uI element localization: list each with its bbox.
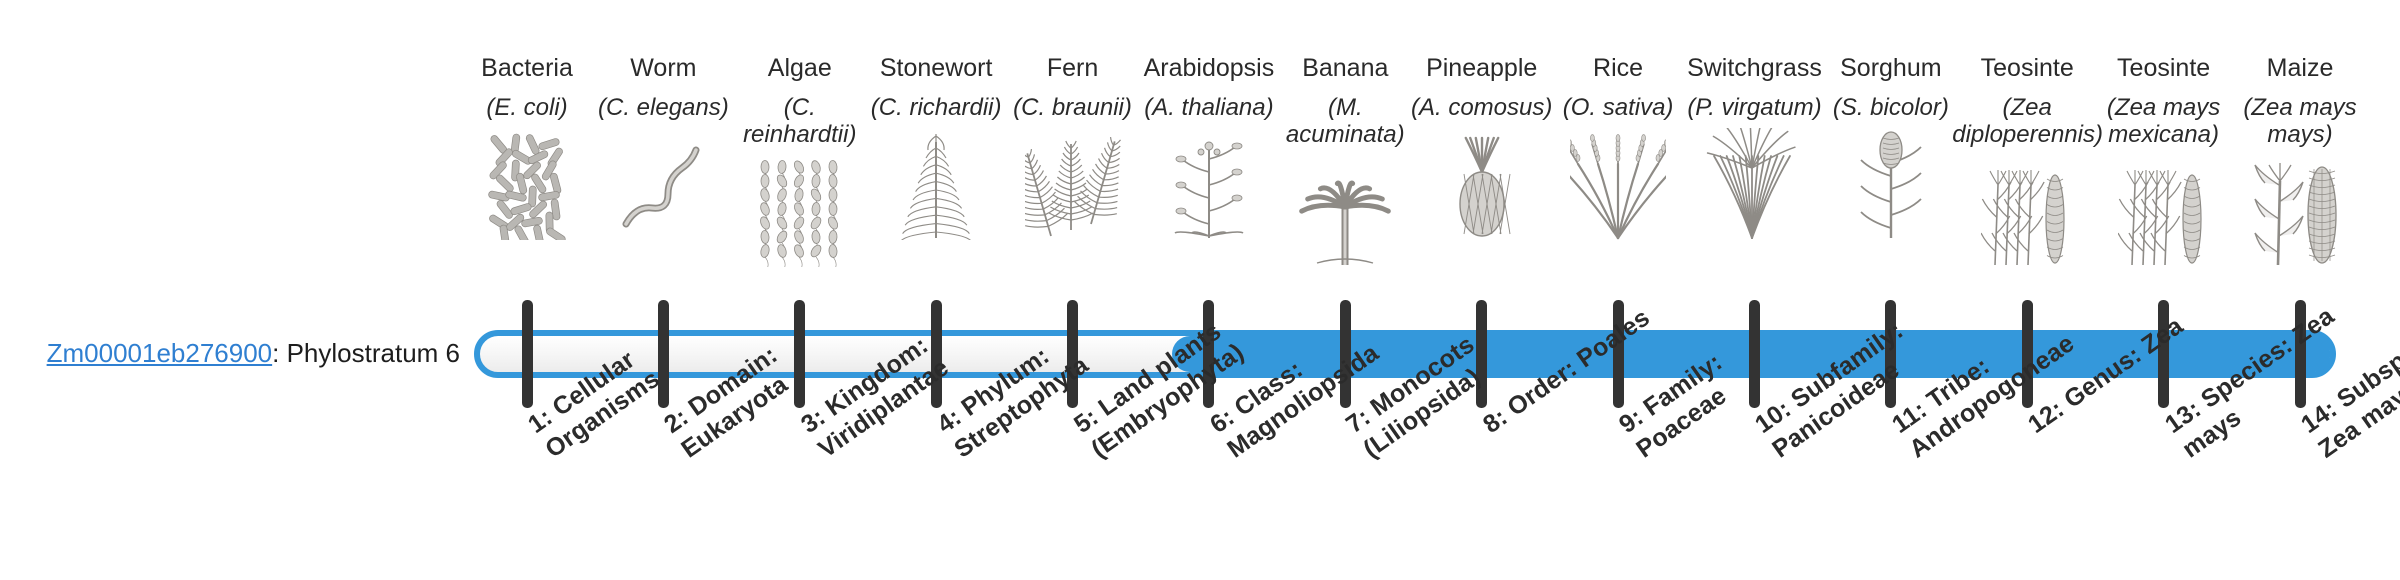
species-column-rice: Rice(O. sativa) [1550,54,1686,240]
stonewort-icon [868,128,1004,240]
species-column-sorghum: Sorghum(S. bicolor) [1823,54,1959,240]
stratum-label-list: 1: Cellular Organisms2: Domain: Eukaryot… [0,416,2400,580]
switchgrass-icon [1686,128,1822,240]
species-common-name: Worm [630,54,696,83]
species-common-name: Switchgrass [1687,54,1822,83]
species-common-name: Stonewort [880,54,993,83]
rice-icon [1550,128,1686,240]
worm-icon [595,128,731,240]
species-scientific-name: (C. reinhardtii) [725,95,875,149]
bacteria-icon [459,128,595,240]
species-column-arabidopsis: Arabidopsis(A. thaliana) [1141,54,1277,240]
species-common-name: Banana [1302,54,1388,83]
species-scientific-name: (M. acuminata) [1270,95,1420,149]
species-common-name: Algae [768,54,832,83]
teosinte-icon [1959,155,2095,267]
arabidopsis-icon [1141,128,1277,240]
species-scientific-name: (C. elegans) [588,95,738,122]
species-scientific-name: (P. virgatum) [1679,95,1829,122]
species-common-name: Maize [2267,54,2334,83]
phylostratum-timeline: Zm00001eb276900: Phylostratum 6 Bacteria… [0,0,2400,580]
species-column-teosinte: Teosinte(Zea diploperennis) [1959,54,2095,267]
algae-icon [732,155,868,267]
species-scientific-name: (Zea mays mays) [2225,95,2375,149]
species-common-name: Rice [1593,54,1643,83]
species-common-name: Bacteria [481,54,573,83]
species-column-teosinte: Teosinte(Zea mays mexicana) [2096,54,2232,267]
species-column-algae: Algae(C. reinhardtii) [732,54,868,267]
species-scientific-name: (C. richardii) [861,95,1011,122]
pineapple-icon [1414,128,1550,240]
species-common-name: Arabidopsis [1144,54,1275,83]
species-column-fern: Fern(C. braunii) [1005,54,1141,240]
species-common-name: Teosinte [2117,54,2210,83]
species-column-worm: Worm(C. elegans) [595,54,731,240]
species-common-name: Fern [1047,54,1098,83]
species-column-switchgrass: Switchgrass(P. virgatum) [1686,54,1822,240]
fern-icon [1005,128,1141,240]
species-column-maize: Maize(Zea mays mays) [2232,54,2368,267]
species-scientific-name: (A. comosus) [1407,95,1557,122]
species-scientific-name: (O. sativa) [1543,95,1693,122]
species-column-stonewort: Stonewort(C. richardii) [868,54,1004,240]
sorghum-icon [1823,128,1959,240]
species-scientific-name: (E. coli) [452,95,602,122]
species-scientific-name: (Zea mays mexicana) [2089,95,2239,149]
species-column-banana: Banana(M. acuminata) [1277,54,1413,267]
species-column-list: Bacteria(E. coli)Worm(C. elegans)Algae(C… [0,0,2400,300]
species-common-name: Pineapple [1426,54,1537,83]
species-column-pineapple: Pineapple(A. comosus) [1414,54,1550,240]
banana-icon [1277,155,1413,267]
species-scientific-name: (S. bicolor) [1816,95,1966,122]
maize-icon [2232,155,2368,267]
species-column-bacteria: Bacteria(E. coli) [459,54,595,240]
species-scientific-name: (Zea diploperennis) [1952,95,2102,149]
species-common-name: Teosinte [1981,54,2074,83]
species-common-name: Sorghum [1840,54,1941,83]
teosinte-icon [2096,155,2232,267]
tick-mark-1 [522,300,533,408]
